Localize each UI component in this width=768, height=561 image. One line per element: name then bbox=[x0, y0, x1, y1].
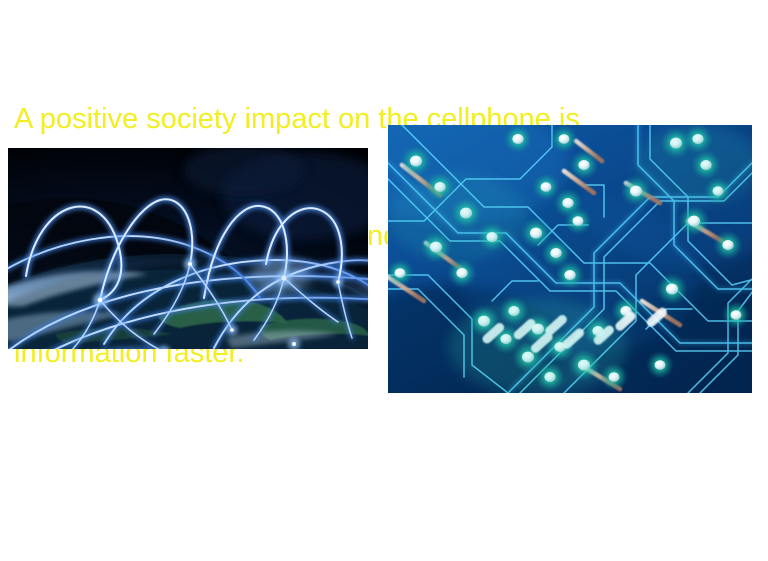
image-circuit-board-macro bbox=[388, 125, 752, 393]
presentation-slide: A positive society impact on the cellpho… bbox=[0, 0, 768, 561]
circuit-board-illustration bbox=[388, 125, 752, 393]
globe-network-illustration bbox=[8, 148, 368, 349]
image-global-network-globe bbox=[8, 148, 368, 349]
